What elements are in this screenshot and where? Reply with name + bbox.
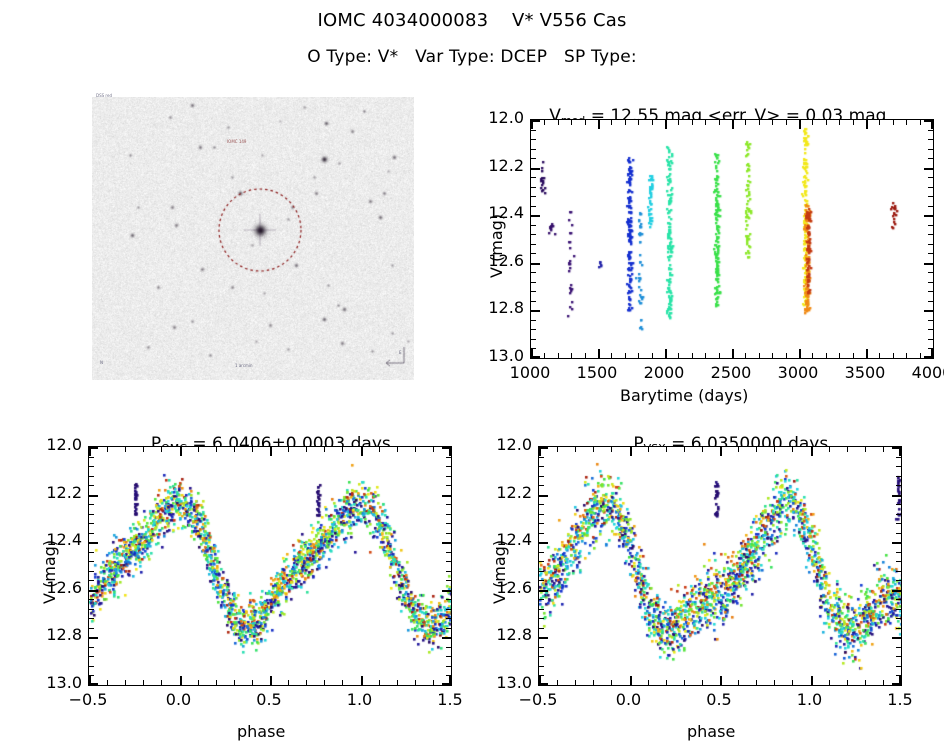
axis-tick — [446, 628, 451, 629]
axis-tick — [306, 680, 307, 685]
axis-tick — [89, 618, 94, 619]
axis-tick — [702, 447, 703, 452]
axis-tick — [896, 514, 901, 515]
axis-tick — [756, 447, 757, 452]
axis-tick — [531, 339, 536, 340]
x-tick-label: 1000 — [500, 363, 560, 382]
axis-tick — [531, 168, 540, 170]
axis-tick — [786, 353, 787, 358]
y-tick-label: 12.0 — [480, 435, 532, 454]
axis-tick — [720, 447, 722, 456]
axis-tick — [531, 263, 540, 265]
axis-tick — [89, 590, 98, 592]
axis-tick — [89, 542, 98, 544]
axis-tick — [738, 680, 739, 685]
axis-tick — [665, 120, 667, 129]
axis-tick — [879, 353, 880, 358]
axis-tick — [924, 120, 933, 122]
axis-tick — [702, 680, 703, 685]
y-tick-label: 12.8 — [480, 625, 532, 644]
timeseries-y-axis-label: V (mag) — [487, 214, 506, 278]
axis-tick — [920, 353, 921, 358]
axis-tick — [928, 329, 933, 330]
axis-tick — [442, 542, 451, 544]
axis-tick — [896, 599, 901, 600]
axis-tick — [652, 353, 653, 358]
axis-tick — [557, 447, 558, 452]
axis-tick — [928, 339, 933, 340]
axis-tick — [89, 447, 98, 449]
axis-tick — [896, 675, 901, 676]
phase-vsx-plot-area — [538, 446, 902, 686]
axis-tick — [847, 680, 848, 685]
axis-tick — [678, 120, 679, 125]
phase-vsx-x-axis-label: phase — [687, 722, 735, 741]
figure-root: IOMC 4034000083 V* V556 Cas O Type: V* V… — [0, 0, 944, 747]
axis-tick — [928, 149, 933, 150]
axis-tick — [883, 447, 884, 452]
axis-tick — [539, 590, 548, 592]
axis-tick — [638, 120, 639, 125]
axis-tick — [924, 356, 933, 358]
axis-tick — [180, 676, 182, 685]
axis-tick — [89, 656, 94, 657]
axis-tick — [539, 618, 544, 619]
axis-tick — [928, 301, 933, 302]
axis-tick — [539, 683, 548, 685]
axis-tick — [792, 447, 793, 452]
axis-tick — [531, 301, 536, 302]
axis-tick — [446, 571, 451, 572]
axis-tick — [906, 353, 907, 358]
axis-tick — [531, 139, 536, 140]
axis-tick — [216, 447, 217, 452]
timeseries-datapoints — [531, 120, 934, 359]
axis-tick — [89, 523, 94, 524]
axis-tick — [446, 618, 451, 619]
axis-tick — [531, 120, 540, 122]
axis-tick — [593, 680, 594, 685]
axis-tick — [531, 244, 536, 245]
axis-tick — [896, 609, 901, 610]
y-tick-label: 12.2 — [472, 156, 524, 175]
axis-tick — [759, 353, 760, 358]
axis-tick — [896, 647, 901, 648]
axis-tick — [531, 196, 536, 197]
axis-tick — [892, 495, 901, 497]
axis-tick — [648, 680, 649, 685]
axis-tick — [811, 447, 813, 456]
x-tick-label: 0.0 — [599, 690, 659, 709]
axis-tick — [539, 523, 544, 524]
axis-tick — [812, 120, 813, 125]
axis-tick — [89, 599, 94, 600]
axis-tick — [928, 139, 933, 140]
axis-tick — [896, 485, 901, 486]
axis-tick — [397, 447, 398, 452]
axis-tick — [89, 485, 94, 486]
axis-tick — [361, 447, 363, 456]
axis-tick — [866, 120, 868, 129]
axis-tick — [539, 637, 548, 639]
finder-label-survey: DSS red — [96, 93, 112, 98]
axis-tick — [539, 457, 544, 458]
finder-label-scale: 1 arcmin — [235, 363, 253, 368]
axis-tick — [89, 571, 94, 572]
axis-tick — [893, 120, 894, 125]
axis-tick — [892, 542, 901, 544]
axis-tick — [896, 457, 901, 458]
axis-tick — [531, 177, 536, 178]
axis-tick — [531, 356, 540, 358]
axis-tick — [638, 353, 639, 358]
axis-tick — [531, 253, 536, 254]
axis-tick — [892, 590, 901, 592]
axis-tick — [531, 320, 536, 321]
axis-tick — [611, 353, 612, 358]
axis-tick — [786, 120, 787, 125]
axis-tick — [928, 177, 933, 178]
axis-tick — [379, 447, 380, 452]
axis-tick — [611, 120, 612, 125]
axis-tick — [665, 349, 667, 358]
axis-tick — [89, 580, 94, 581]
x-tick-label: 0.0 — [149, 690, 209, 709]
axis-tick — [896, 476, 901, 477]
axis-tick — [879, 120, 880, 125]
x-tick-label: 4000 — [902, 363, 944, 382]
axis-tick — [446, 533, 451, 534]
x-tick-label: 1500 — [567, 363, 627, 382]
axis-tick — [198, 680, 199, 685]
x-tick-label: −0.5 — [58, 690, 118, 709]
axis-tick — [544, 353, 545, 358]
axis-tick — [928, 320, 933, 321]
axis-tick — [571, 353, 572, 358]
axis-tick — [446, 647, 451, 648]
axis-tick — [539, 628, 544, 629]
axis-tick — [792, 680, 793, 685]
axis-tick — [732, 120, 734, 129]
axis-tick — [719, 120, 720, 125]
axis-tick — [446, 675, 451, 676]
axis-tick — [89, 466, 94, 467]
x-tick-label: −0.5 — [508, 690, 568, 709]
axis-tick — [324, 680, 325, 685]
axis-tick — [539, 542, 548, 544]
axis-tick — [446, 666, 451, 667]
axis-tick — [89, 647, 94, 648]
axis-tick — [625, 353, 626, 358]
axis-tick — [745, 120, 746, 125]
axis-tick — [446, 485, 451, 486]
x-tick-label: 1.5 — [870, 690, 930, 709]
axis-tick — [865, 447, 866, 452]
axis-tick — [89, 514, 94, 515]
axis-tick — [558, 353, 559, 358]
axis-tick — [896, 580, 901, 581]
timeseries-plot-area — [530, 119, 934, 359]
axis-tick — [531, 158, 536, 159]
axis-tick — [89, 666, 94, 667]
axis-tick — [198, 447, 199, 452]
axis-tick — [442, 590, 451, 592]
axis-tick — [531, 234, 536, 235]
axis-tick — [161, 447, 162, 452]
axis-tick — [705, 120, 706, 125]
axis-tick — [928, 130, 933, 131]
axis-tick — [611, 447, 612, 452]
axis-tick — [853, 120, 854, 125]
axis-tick — [928, 244, 933, 245]
axis-tick — [896, 628, 901, 629]
axis-tick — [107, 680, 108, 685]
axis-tick — [531, 348, 536, 349]
axis-tick — [811, 676, 813, 685]
axis-tick — [539, 675, 544, 676]
axis-tick — [161, 680, 162, 685]
x-tick-label: 0.5 — [689, 690, 749, 709]
axis-tick — [415, 680, 416, 685]
axis-tick — [585, 353, 586, 358]
axis-tick — [928, 234, 933, 235]
axis-tick — [89, 552, 94, 553]
axis-tick — [756, 680, 757, 685]
axis-tick — [446, 514, 451, 515]
axis-tick — [928, 291, 933, 292]
axis-tick — [539, 580, 544, 581]
phase-omc-plot-area — [88, 446, 452, 686]
axis-tick — [772, 353, 773, 358]
axis-tick — [531, 272, 536, 273]
phase-vsx-datapoints — [539, 447, 902, 686]
axis-tick — [826, 120, 827, 125]
axis-tick — [539, 447, 548, 449]
axis-tick — [531, 329, 536, 330]
x-tick-label: 2500 — [701, 363, 761, 382]
axis-tick — [630, 676, 632, 685]
object-type-line: O Type: V* Var Type: DCEP SP Type: — [0, 47, 944, 67]
axis-tick — [892, 683, 901, 685]
axis-tick — [585, 120, 586, 125]
axis-tick — [892, 447, 901, 449]
axis-tick — [89, 533, 94, 534]
x-tick-label: 1.5 — [420, 690, 480, 709]
axis-tick — [893, 353, 894, 358]
axis-tick — [829, 680, 830, 685]
axis-tick — [611, 680, 612, 685]
y-tick-label: 12.2 — [30, 483, 82, 502]
axis-tick — [812, 353, 813, 358]
axis-tick — [89, 504, 94, 505]
axis-tick — [575, 680, 576, 685]
axis-tick — [89, 609, 94, 610]
axis-tick — [531, 225, 536, 226]
axis-tick — [759, 120, 760, 125]
axis-tick — [924, 310, 933, 312]
axis-tick — [745, 353, 746, 358]
axis-tick — [906, 120, 907, 125]
axis-tick — [896, 552, 901, 553]
axis-tick — [442, 447, 451, 449]
axis-tick — [446, 656, 451, 657]
axis-tick — [924, 168, 933, 170]
axis-tick — [234, 447, 235, 452]
x-tick-label: 1.0 — [330, 690, 390, 709]
x-tick-label: 1.0 — [780, 690, 840, 709]
axis-tick — [531, 187, 536, 188]
axis-tick — [896, 618, 901, 619]
axis-tick — [531, 310, 540, 312]
axis-tick — [630, 447, 632, 456]
axis-tick — [928, 158, 933, 159]
axis-tick — [920, 120, 921, 125]
axis-tick — [896, 504, 901, 505]
axis-tick — [896, 561, 901, 562]
axis-tick — [692, 353, 693, 358]
axis-tick — [571, 120, 572, 125]
axis-tick — [892, 637, 901, 639]
finder-label-target: IOMC 149 — [227, 139, 246, 144]
axis-tick — [705, 353, 706, 358]
axis-tick — [539, 552, 544, 553]
axis-tick — [234, 680, 235, 685]
axis-tick — [446, 599, 451, 600]
axis-tick — [539, 495, 548, 497]
axis-tick — [89, 457, 94, 458]
axis-tick — [446, 457, 451, 458]
axis-tick — [415, 447, 416, 452]
axis-tick — [666, 680, 667, 685]
axis-tick — [539, 561, 544, 562]
axis-tick — [342, 447, 343, 452]
axis-tick — [684, 447, 685, 452]
axis-tick — [544, 120, 545, 125]
axis-tick — [539, 485, 544, 486]
axis-tick — [89, 561, 94, 562]
axis-tick — [539, 514, 544, 515]
axis-tick — [270, 676, 272, 685]
axis-tick — [774, 680, 775, 685]
axis-tick — [143, 447, 144, 452]
finder-label-east: E — [399, 350, 402, 355]
axis-tick — [539, 666, 544, 667]
axis-tick — [442, 637, 451, 639]
axis-tick — [928, 272, 933, 273]
axis-tick — [799, 349, 801, 358]
axis-tick — [446, 580, 451, 581]
axis-tick — [539, 533, 544, 534]
axis-tick — [720, 676, 722, 685]
axis-tick — [539, 504, 544, 505]
x-tick-label: 2000 — [634, 363, 694, 382]
axis-tick — [288, 447, 289, 452]
phase-omc-datapoints — [89, 447, 452, 686]
axis-tick — [557, 680, 558, 685]
axis-tick — [531, 130, 536, 131]
axis-tick — [738, 447, 739, 452]
axis-tick — [539, 571, 544, 572]
axis-tick — [652, 120, 653, 125]
axis-tick — [896, 533, 901, 534]
axis-tick — [89, 637, 98, 639]
axis-tick — [433, 680, 434, 685]
axis-tick — [143, 680, 144, 685]
finder-chart-image — [92, 97, 414, 380]
axis-tick — [89, 476, 94, 477]
axis-tick — [433, 447, 434, 452]
axis-tick — [324, 447, 325, 452]
axis-tick — [397, 680, 398, 685]
axis-tick — [883, 680, 884, 685]
axis-tick — [531, 206, 536, 207]
axis-tick — [839, 353, 840, 358]
y-tick-label: 12.0 — [30, 435, 82, 454]
axis-tick — [684, 680, 685, 685]
axis-tick — [89, 683, 98, 685]
axis-tick — [446, 466, 451, 467]
axis-tick — [539, 466, 544, 467]
axis-tick — [539, 599, 544, 600]
axis-tick — [774, 447, 775, 452]
axis-tick — [531, 215, 540, 217]
x-tick-label: 3000 — [768, 363, 828, 382]
y-tick-label: 12.8 — [472, 298, 524, 317]
phase-omc-x-axis-label: phase — [237, 722, 285, 741]
axis-tick — [252, 447, 253, 452]
axis-tick — [89, 675, 94, 676]
axis-tick — [719, 353, 720, 358]
axis-tick — [216, 680, 217, 685]
axis-tick — [924, 263, 933, 265]
x-tick-label: 3500 — [835, 363, 895, 382]
axis-tick — [288, 680, 289, 685]
axis-tick — [625, 120, 626, 125]
axis-tick — [442, 683, 451, 685]
axis-tick — [732, 349, 734, 358]
axis-tick — [928, 206, 933, 207]
axis-tick — [539, 656, 544, 657]
axis-tick — [107, 447, 108, 452]
axis-tick — [89, 495, 98, 497]
axis-tick — [539, 609, 544, 610]
axis-tick — [865, 680, 866, 685]
axis-tick — [539, 647, 544, 648]
axis-tick — [270, 447, 272, 456]
axis-tick — [379, 680, 380, 685]
axis-tick — [446, 523, 451, 524]
axis-tick — [648, 447, 649, 452]
axis-tick — [531, 291, 536, 292]
axis-tick — [539, 476, 544, 477]
axis-tick — [446, 561, 451, 562]
x-tick-label: 0.5 — [239, 690, 299, 709]
axis-tick — [531, 149, 536, 150]
axis-tick — [853, 353, 854, 358]
axis-tick — [125, 447, 126, 452]
axis-tick — [446, 504, 451, 505]
axis-tick — [847, 447, 848, 452]
axis-tick — [896, 523, 901, 524]
axis-tick — [678, 353, 679, 358]
axis-tick — [252, 680, 253, 685]
axis-tick — [598, 349, 600, 358]
axis-tick — [924, 215, 933, 217]
axis-tick — [829, 447, 830, 452]
axis-tick — [928, 253, 933, 254]
axis-tick — [896, 666, 901, 667]
phase-vsx-y-axis-label: V (mag) — [490, 540, 509, 604]
